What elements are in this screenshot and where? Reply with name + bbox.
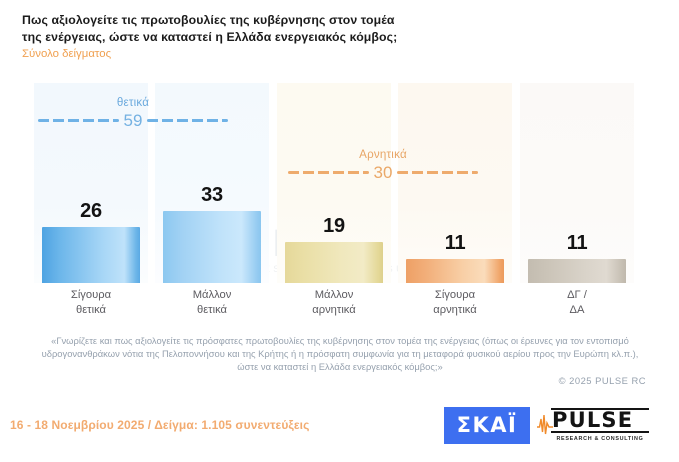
category-label: Σίγουρα θετικά [34,288,148,318]
chart-column: 19 [277,83,391,283]
skai-logo-text: ΣΚΑΪ [457,413,518,437]
category-label-line: Σίγουρα [34,288,148,303]
category-label-line: Μάλλον [277,288,391,303]
logo-row: ΣΚΑΪ PULSE RESEARCH & CONSULTING [444,404,649,446]
annotation-row: 59 [38,111,228,130]
footnote-text: «Γνωρίζετε και πως αξιολογείτε τις πρόσφ… [34,334,646,373]
bar-value: 26 [34,200,148,223]
dashed-line-right [397,171,478,175]
category-label-line: Σίγουρα [398,288,512,303]
category-label: Μάλλον αρνητικά [277,288,391,318]
skai-logo: ΣΚΑΪ [444,407,530,444]
dashed-line-left [288,171,369,175]
category-label-line: αρνητικά [398,303,512,318]
chart-column: 11 [520,83,634,283]
poll-chart-page: Πως αξιολογείτε τις πρωτοβουλίες της κυβ… [0,0,679,462]
category-label: Σίγουρα αρνητικά [398,288,512,318]
category-label: Μάλλον θετικά [155,288,269,318]
annotation-label: θετικά [38,96,228,109]
page-title-line-1: Πως αξιολογείτε τις πρωτοβουλίες της κυβ… [22,12,542,29]
annotation-row: 30 [288,163,478,182]
bar [163,211,261,283]
category-label-line: αρνητικά [277,303,391,318]
footnote-block: «Γνωρίζετε και πως αξιολογείτε τις πρόσφ… [34,334,646,387]
annotation-negative-total: Αρνητικά 30 [288,148,478,182]
bar [42,227,140,283]
bar [528,259,626,283]
subtitle: Σύνολο δείγματος [22,46,542,62]
bar-value: 33 [155,184,269,207]
pulse-logo-text: PULSE [551,408,649,433]
bar-value: 11 [398,232,512,255]
category-label-line: Μάλλον [155,288,269,303]
page-title-line-2: της ενέργειας, ώστε να καταστεί η Ελλάδα… [22,29,542,46]
title-block: Πως αξιολογείτε τις πρωτοβουλίες της κυβ… [22,12,542,62]
bar [285,242,383,283]
category-label-line: θετικά [34,303,148,318]
category-label: ΔΓ / ΔΑ [520,288,634,318]
category-label-line: ΔΓ / [520,288,634,303]
pulse-logo: PULSE RESEARCH & CONSULTING [537,406,649,444]
bar-value: 19 [277,215,391,238]
pulse-logo-subtitle: RESEARCH & CONSULTING [551,436,649,442]
fieldwork-dates-and-sample: 16 - 18 Νοεμβρίου 2025 / Δείγμα: 1.105 σ… [10,418,309,432]
annotation-value: 30 [369,163,398,182]
copyright-text: © 2025 PULSE RC [34,374,646,387]
annotation-value: 59 [119,111,148,130]
annotation-label: Αρνητικά [288,148,478,161]
chart-column: 11 [398,83,512,283]
bar [406,259,504,283]
category-label-line: θετικά [155,303,269,318]
category-label-line: ΔΑ [520,303,634,318]
bar-value: 11 [520,232,634,255]
waveform-icon [537,413,553,437]
dashed-line-right [147,119,228,123]
dashed-line-left [38,119,119,123]
annotation-positive-total: θετικά 59 [38,96,228,130]
category-axis: Σίγουρα θετικά Μάλλον θετικά Μάλλον αρνη… [34,288,646,324]
